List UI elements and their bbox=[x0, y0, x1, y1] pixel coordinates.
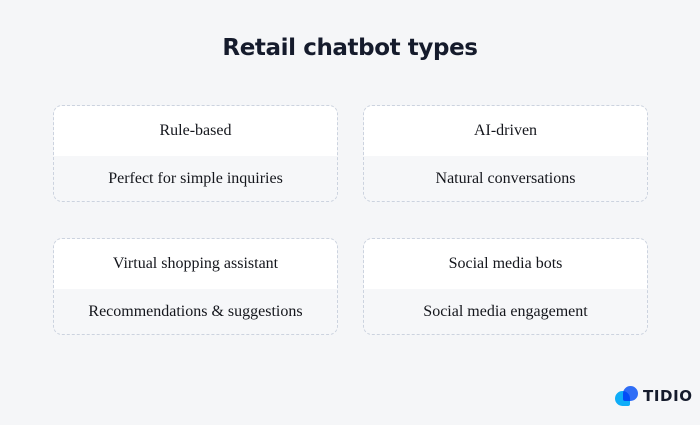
chatbot-type-card: Virtual shopping assistant Recommendatio… bbox=[53, 238, 338, 335]
card-title: Virtual shopping assistant bbox=[105, 254, 286, 274]
chatbot-type-card: Rule-based Perfect for simple inquiries bbox=[53, 105, 338, 202]
chatbot-type-card: Social media bots Social media engagemen… bbox=[363, 238, 648, 335]
card-title: Social media bots bbox=[441, 254, 571, 274]
card-body: Natural conversations bbox=[364, 156, 647, 201]
card-header: Social media bots bbox=[364, 239, 647, 289]
chatbot-type-card: AI-driven Natural conversations bbox=[363, 105, 648, 202]
card-header: Rule-based bbox=[54, 106, 337, 156]
card-title: AI-driven bbox=[466, 121, 545, 141]
card-body: Social media engagement bbox=[364, 289, 647, 334]
card-body: Perfect for simple inquiries bbox=[54, 156, 337, 201]
card-header: Virtual shopping assistant bbox=[54, 239, 337, 289]
tidio-wordmark: TIDIO bbox=[643, 388, 693, 404]
bubble-front-shape bbox=[615, 391, 630, 406]
chatbot-types-grid: Rule-based Perfect for simple inquiries … bbox=[53, 105, 648, 335]
card-description: Social media engagement bbox=[415, 302, 595, 322]
card-description: Perfect for simple inquiries bbox=[100, 169, 291, 189]
tidio-chat-bubbles-icon bbox=[615, 386, 638, 407]
card-title: Rule-based bbox=[152, 121, 240, 141]
page-title: Retail chatbot types bbox=[0, 33, 700, 63]
card-description: Natural conversations bbox=[428, 169, 584, 189]
card-description: Recommendations & suggestions bbox=[80, 302, 310, 322]
tidio-logo: TIDIO bbox=[615, 384, 693, 408]
infographic-canvas: Retail chatbot types Rule-based Perfect … bbox=[0, 0, 700, 425]
card-header: AI-driven bbox=[364, 106, 647, 156]
card-body: Recommendations & suggestions bbox=[54, 289, 337, 334]
